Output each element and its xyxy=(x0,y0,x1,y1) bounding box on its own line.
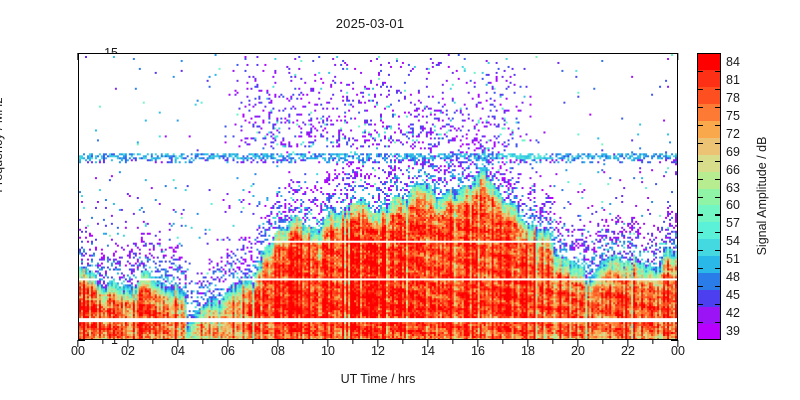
colorbar-tick-mark xyxy=(715,214,721,215)
colorbar-label: Signal Amplitude / dB xyxy=(755,96,769,296)
colorbar-tick-label: 81 xyxy=(726,73,760,87)
x-axis-label: UT Time / hrs xyxy=(78,372,678,386)
y-tick-mark xyxy=(78,340,85,341)
x-tick-mark-minor xyxy=(602,340,603,344)
colorbar-tick-mark xyxy=(715,232,721,233)
x-tick-mark-minor xyxy=(302,340,303,344)
colorbar-tick-mark xyxy=(697,197,703,198)
colorbar-segment xyxy=(698,54,720,72)
colorbar-segment xyxy=(698,138,720,156)
colorbar-segment xyxy=(698,273,720,291)
colorbar-tick-mark xyxy=(697,89,703,90)
x-tick-mark xyxy=(177,340,178,347)
y-axis-label: Frequency / MHz xyxy=(0,55,5,235)
colorbar-tick-mark xyxy=(715,322,721,323)
colorbar-tick-mark xyxy=(715,250,721,251)
colorbar-tick-mark xyxy=(715,268,721,269)
colorbar-segment xyxy=(698,172,720,190)
colorbar-segment xyxy=(698,324,720,340)
colorbar-tick-mark xyxy=(715,304,721,305)
spectrogram-canvas xyxy=(79,54,677,339)
colorbar-tick-mark xyxy=(697,304,703,305)
plot-area xyxy=(78,53,678,340)
colorbar-tick-mark xyxy=(697,268,703,269)
colorbar-tick-mark xyxy=(697,286,703,287)
x-tick-mark xyxy=(377,340,378,347)
x-tick-mark xyxy=(77,340,78,347)
colorbar-tick-mark xyxy=(697,71,703,72)
colorbar-tick-mark xyxy=(697,143,703,144)
x-tick-mark xyxy=(127,340,128,347)
x-tick-mark xyxy=(327,340,328,347)
colorbar-segment xyxy=(698,222,720,240)
colorbar-segment xyxy=(698,256,720,274)
colorbar-tick-label: 84 xyxy=(726,55,760,69)
colorbar-tick-mark xyxy=(697,179,703,180)
x-tick-mark xyxy=(227,340,228,347)
x-tick-mark-minor xyxy=(252,340,253,344)
colorbar-tick-mark xyxy=(697,322,703,323)
colorbar-segment xyxy=(698,155,720,173)
colorbar-segment xyxy=(698,239,720,257)
x-tick-mark-minor xyxy=(202,340,203,344)
colorbar-segment xyxy=(698,121,720,139)
colorbar-tick-mark xyxy=(715,125,721,126)
x-tick-mark-minor xyxy=(452,340,453,344)
x-tick-mark-minor xyxy=(152,340,153,344)
x-tick-mark-minor xyxy=(102,340,103,344)
x-tick-mark xyxy=(527,340,528,347)
chart-root: 2025-03-01 Frequency / MHz UT Time / hrs… xyxy=(0,0,800,400)
colorbar-tick-mark xyxy=(715,143,721,144)
x-tick-mark xyxy=(577,340,578,347)
colorbar-tick-mark xyxy=(715,197,721,198)
colorbar-tick-label: 39 xyxy=(726,324,760,338)
colorbar-tick-mark xyxy=(715,107,721,108)
x-tick-mark xyxy=(277,340,278,347)
colorbar-tick-mark xyxy=(697,107,703,108)
chart-title: 2025-03-01 xyxy=(0,16,740,31)
colorbar-tick-mark xyxy=(697,161,703,162)
x-tick-mark-minor xyxy=(352,340,353,344)
colorbar-tick-mark xyxy=(715,179,721,180)
colorbar-tick-mark xyxy=(697,232,703,233)
x-tick-mark xyxy=(627,340,628,347)
colorbar-tick-mark xyxy=(715,161,721,162)
colorbar-tick-mark xyxy=(715,89,721,90)
colorbar-segment xyxy=(698,70,720,88)
colorbar-tick-mark xyxy=(697,250,703,251)
x-tick-mark-minor xyxy=(502,340,503,344)
x-tick-mark-minor xyxy=(402,340,403,344)
x-tick-mark xyxy=(677,340,678,347)
x-tick-mark-minor xyxy=(552,340,553,344)
colorbar-tick-mark xyxy=(697,214,703,215)
x-tick-mark-minor xyxy=(652,340,653,344)
colorbar-tick-mark xyxy=(715,286,721,287)
colorbar-tick-label: 42 xyxy=(726,306,760,320)
colorbar-tick-mark xyxy=(715,71,721,72)
x-tick-mark xyxy=(427,340,428,347)
x-tick-mark xyxy=(477,340,478,347)
colorbar-tick-mark xyxy=(697,125,703,126)
